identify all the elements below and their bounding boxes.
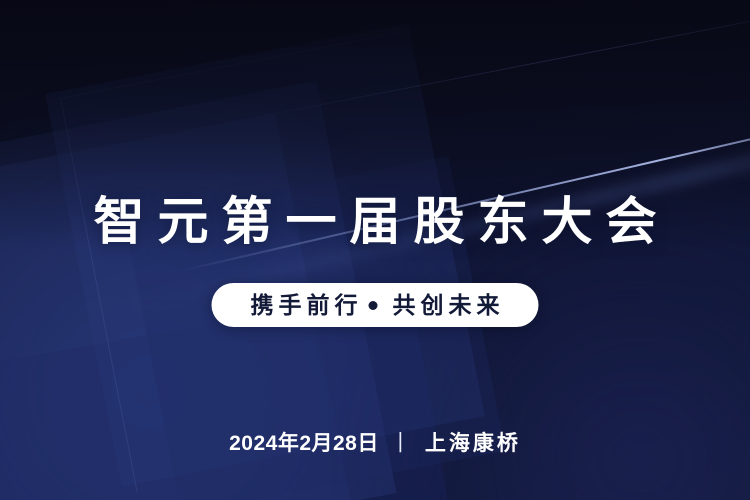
page-title: 智元第一届股东大会 [0, 196, 750, 247]
meta-separator: 丨 [390, 432, 411, 454]
event-banner: 智元第一届股东大会 携手前行 共创未来 2024年2月28日 丨 上海康桥 [0, 0, 750, 500]
event-location: 上海康桥 [422, 433, 521, 454]
bullet-dot-icon [369, 301, 378, 310]
slogan-pill: 携手前行 共创未来 [212, 283, 539, 327]
slogan-right-text: 共创未来 [388, 294, 505, 317]
event-date: 2024年2月28日 [229, 433, 379, 454]
slogan-left-text: 携手前行 [246, 294, 363, 317]
event-meta: 2024年2月28日 丨 上海康桥 [0, 433, 750, 454]
banner-content: 智元第一届股东大会 携手前行 共创未来 2024年2月28日 丨 上海康桥 [0, 0, 750, 500]
